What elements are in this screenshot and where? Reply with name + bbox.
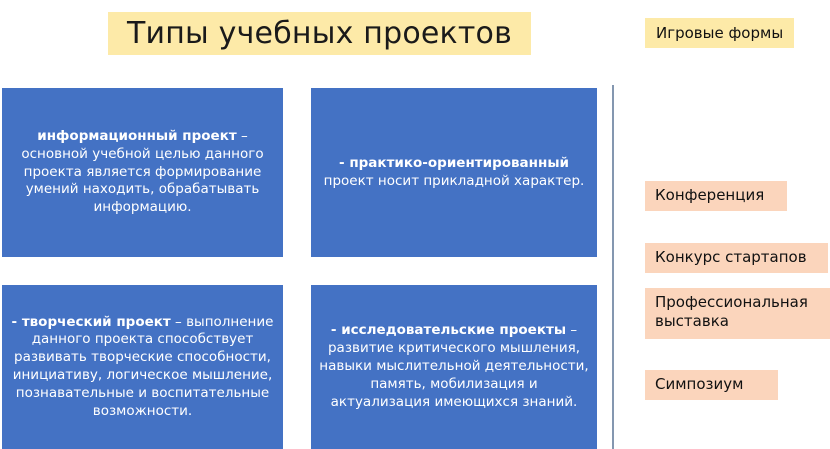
card-creative-project[interactable]: - творческий проект – выполнение данного…	[2, 285, 283, 449]
card-information-project-text: информационный проект – основной учебной…	[10, 128, 275, 217]
card-information-project-heading: информационный проект	[37, 128, 236, 144]
card-information-project-dash: –	[237, 128, 248, 144]
chip-professional-expo[interactable]: Профессиональная выставка	[645, 288, 830, 339]
card-practice-oriented-project-body: проект носит прикладной характер.	[324, 173, 585, 189]
chip-conference-label: Конференция	[655, 186, 764, 205]
chip-symposium-label: Симпозиум	[655, 375, 743, 394]
card-creative-project-dash: –	[171, 314, 186, 330]
card-information-project-body: основной учебной целью данного проекта я…	[21, 146, 263, 215]
card-practice-oriented-project-heading: - практико-ориентированный	[339, 155, 569, 171]
card-research-projects-dash: –	[566, 322, 577, 338]
chip-startup-contest[interactable]: Конкурс стартапов	[645, 243, 828, 273]
slide-canvas: Типы учебных проектов Игровые формы инфо…	[0, 0, 830, 449]
card-creative-project-text: - творческий проект – выполнение данного…	[10, 314, 275, 421]
card-research-projects-heading: - исследовательские проекты	[331, 322, 566, 338]
vertical-divider	[612, 85, 614, 449]
card-research-projects-body: развитие критического мышления, навыки м…	[319, 340, 588, 409]
chip-startup-contest-label: Конкурс стартапов	[655, 248, 807, 267]
chip-professional-expo-label: Профессиональная выставка	[655, 293, 820, 331]
card-research-projects-text: - исследовательские проекты – развитие к…	[319, 322, 589, 411]
card-creative-project-heading: - творческий проект	[12, 314, 171, 330]
card-practice-oriented-project[interactable]: - практико-ориентированный проект носит …	[311, 88, 597, 257]
card-information-project[interactable]: информационный проект – основной учебной…	[2, 88, 283, 257]
chip-conference[interactable]: Конференция	[645, 181, 787, 211]
slide-title-banner: Типы учебных проектов	[108, 12, 531, 55]
page-title: Типы учебных проектов	[127, 19, 512, 49]
chip-game-forms-label: Игровые формы	[656, 24, 783, 42]
card-research-projects[interactable]: - исследовательские проекты – развитие к…	[311, 285, 597, 449]
chip-symposium[interactable]: Симпозиум	[645, 370, 778, 400]
card-practice-oriented-project-text: - практико-ориентированный проект носит …	[319, 155, 589, 191]
chip-game-forms[interactable]: Игровые формы	[645, 18, 794, 48]
